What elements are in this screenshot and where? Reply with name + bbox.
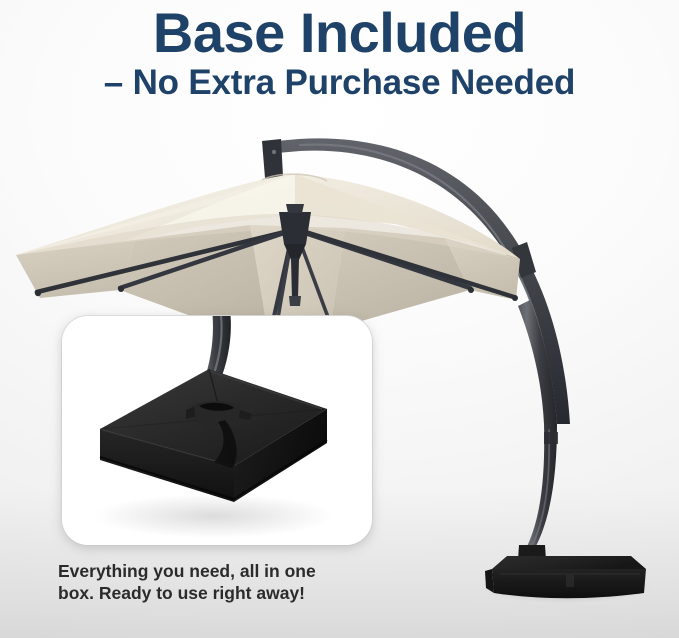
weighted-base-center-mark <box>566 575 574 587</box>
inset-detail-card <box>62 316 372 545</box>
canopy-rib-tip <box>468 287 474 293</box>
headline-block: Base Included – No Extra Purchase Needed <box>0 4 679 104</box>
arm-apex-rivet <box>272 150 276 154</box>
canopy-rib-tip <box>35 290 41 296</box>
pole-segment-joint <box>544 432 558 444</box>
inset-caption: Everything you need, all in one box. Rea… <box>58 560 388 604</box>
caption-line-1: Everything you need, all in one <box>58 560 388 582</box>
weighted-base-group <box>485 556 646 598</box>
caption-line-2: box. Ready to use right away! <box>58 582 388 604</box>
weighted-base-top <box>492 556 646 569</box>
hub-body <box>279 212 311 244</box>
inset-base-illustration <box>62 316 372 545</box>
hub-stem-cap <box>289 296 301 306</box>
product-graphic-canvas: Base Included – No Extra Purchase Needed <box>0 0 679 638</box>
inset-base-ground-shadow <box>94 494 334 538</box>
headline-line-primary: Base Included <box>0 4 679 62</box>
headline-line-secondary: – No Extra Purchase Needed <box>0 62 679 104</box>
hub-top-finial <box>286 204 304 213</box>
canopy-shade-left-outer <box>16 240 135 298</box>
canopy-rib-tip <box>512 295 518 301</box>
canopy-rib-tip <box>118 286 124 292</box>
hub-stem <box>291 258 299 300</box>
